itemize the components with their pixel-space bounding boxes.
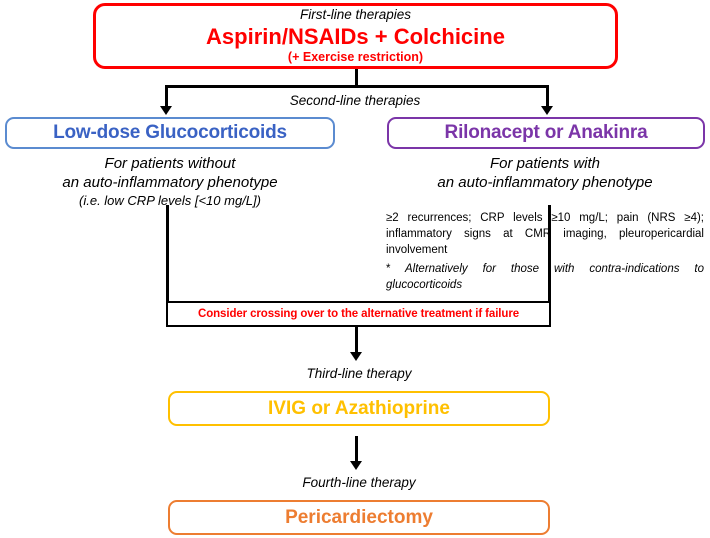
second-line-label: Second-line therapies: [0, 93, 710, 108]
right-description-line2: an auto-inflammatory phenotype: [386, 174, 704, 193]
low-dose-glucocorticoids-box: Low-dose Glucocorticoids: [5, 117, 335, 149]
crossover-label: Consider crossing over to the alternativ…: [198, 308, 519, 320]
right-branch-alternative: * Alternatively for those with contra-in…: [386, 262, 704, 294]
left-description-line2: an auto-inflammatory phenotype: [10, 174, 330, 193]
alternative-marker: *: [386, 263, 390, 275]
pericardiectomy-box: Pericardiectomy: [168, 500, 550, 535]
first-line-header: First-line therapies: [300, 7, 411, 23]
first-line-therapy-box: First-line therapies Aspirin/NSAIDs + Co…: [93, 3, 618, 69]
third-line-label: Third-line therapy: [168, 366, 550, 381]
first-line-subtitle: (+ Exercise restriction): [288, 50, 423, 64]
fourth-line-label: Fourth-line therapy: [168, 475, 550, 490]
right-branch-criteria: ≥2 recurrences; CRP levels ≥10 mg/L; pai…: [386, 211, 704, 259]
left-description-note: (i.e. low CRP levels [<10 mg/L]): [10, 193, 330, 209]
crossover-box: Consider crossing over to the alternativ…: [166, 301, 551, 327]
ivig-azathioprine-box: IVIG or Azathioprine: [168, 391, 550, 426]
arrowhead-to-third-line: [350, 352, 362, 361]
rilonacept-anakinra-box: Rilonacept or Anakinra: [387, 117, 705, 149]
flowchart-canvas: First-line therapies Aspirin/NSAIDs + Co…: [0, 0, 710, 538]
rilonacept-anakinra-label: Rilonacept or Anakinra: [445, 122, 648, 144]
connector-third-to-fourth: [355, 436, 358, 463]
ivig-azathioprine-label: IVIG or Azathioprine: [268, 398, 450, 420]
pericardiectomy-label: Pericardiectomy: [285, 507, 433, 529]
first-line-title: Aspirin/NSAIDs + Colchicine: [206, 24, 505, 49]
arrowhead-to-fourth-line: [350, 461, 362, 470]
right-branch-description: For patients with an auto-inflammatory p…: [386, 155, 704, 193]
low-dose-glucocorticoids-label: Low-dose Glucocorticoids: [53, 122, 287, 144]
left-branch-description: For patients without an auto-inflammator…: [10, 155, 330, 209]
connector-crossover-to-third: [355, 327, 358, 354]
connector-split-horizontal: [165, 85, 549, 88]
right-description-line1: For patients with: [386, 155, 704, 174]
left-description-line1: For patients without: [10, 155, 330, 174]
alternative-text: Alternatively for those with contra-indi…: [386, 263, 704, 291]
